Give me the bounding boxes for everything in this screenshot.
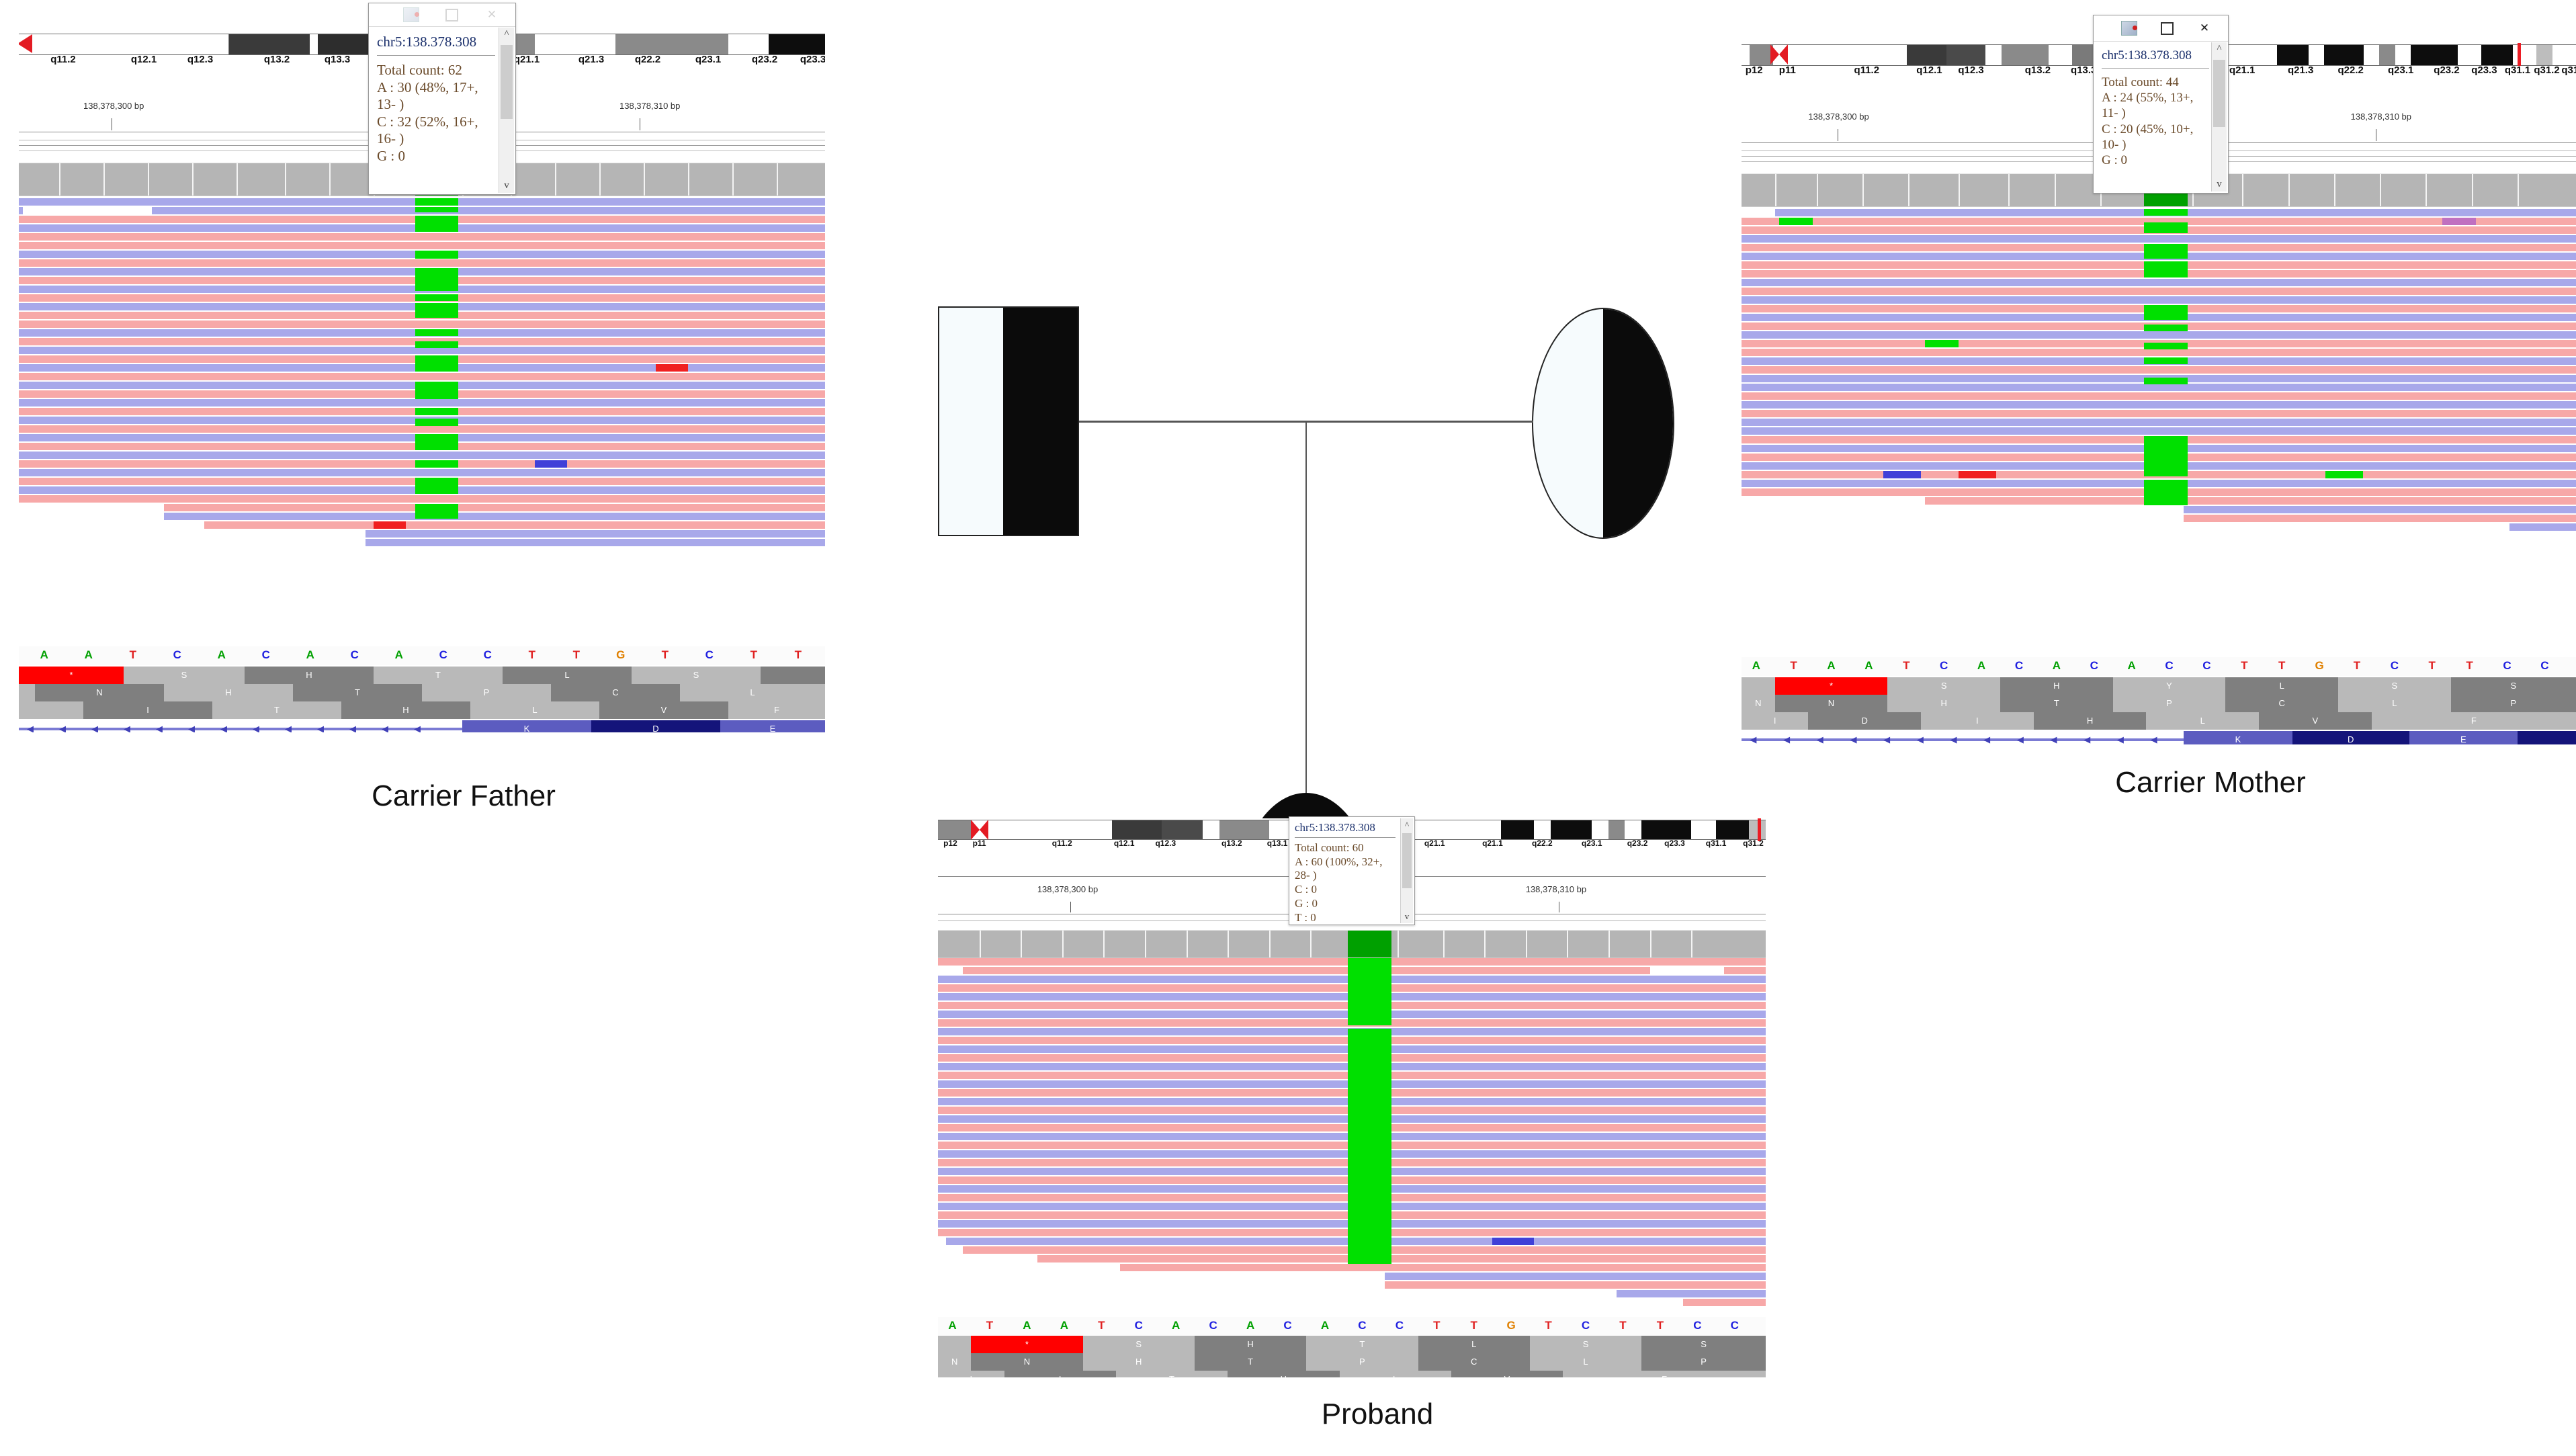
coverage-track-proband[interactable] [938, 930, 1766, 958]
sequence-base: T [777, 646, 820, 664]
read[interactable] [1742, 366, 2576, 374]
amino-acid: T [1195, 1353, 1306, 1371]
ideogram-band-label: q12.1 [131, 54, 157, 65]
read[interactable] [366, 539, 825, 546]
sequence-base: C [422, 646, 465, 664]
translation-frames-father: * S H T L S N H T P C L I T H [19, 667, 825, 719]
sequence-base: C [1381, 1317, 1418, 1334]
pedigree-descent-line [1305, 421, 1307, 794]
read[interactable] [1617, 1290, 1766, 1297]
amino-acid: S [2451, 677, 2576, 695]
alignment-track-mother[interactable] [1742, 209, 2576, 656]
read[interactable] [1742, 384, 2576, 391]
variant-mismatch-A [415, 460, 458, 468]
amino-acid: L [2146, 712, 2259, 730]
ideogram-band-label: q13.2 [264, 54, 290, 65]
amino-acid: H [164, 684, 293, 701]
ideogram-band-label: q23.1 [695, 54, 721, 65]
sequence-base: A [1963, 657, 2000, 675]
read[interactable] [19, 495, 825, 503]
minimize-icon[interactable] [402, 6, 420, 24]
sequence-base: C [2376, 657, 2413, 675]
read[interactable] [19, 259, 825, 267]
amino-acid: H [1195, 1336, 1306, 1353]
read[interactable] [1742, 331, 2576, 339]
tooltip-line: A : 30 (48%, 17+, [377, 79, 495, 97]
ideogram-band-label: q13.1 [1267, 839, 1288, 848]
sequence-base: A [2038, 657, 2075, 675]
read[interactable] [1742, 279, 2576, 286]
read[interactable] [19, 320, 825, 328]
coverage-variant-bar [1348, 931, 1391, 957]
sequence-base: C [1716, 1317, 1753, 1334]
amino-acid: S [1083, 1336, 1195, 1353]
read[interactable] [1037, 1255, 1766, 1262]
gene-exon[interactable]: E [2409, 731, 2518, 744]
tooltip-line: G : 0 [377, 148, 495, 165]
read[interactable] [1742, 296, 2576, 304]
sequence-base: A [378, 646, 421, 664]
ideogram-band-label: q23.3 [800, 54, 825, 65]
close-icon[interactable]: ✕ [2196, 19, 2213, 37]
ideogram-band-label: q23.2 [2434, 65, 2459, 76]
tooltip-divider [377, 55, 495, 56]
sequence-base: A [23, 646, 66, 664]
sequence-base: C [1344, 1317, 1381, 1334]
amino-acid: Y [2113, 677, 2226, 695]
amino-acid: L [503, 667, 632, 684]
sequence-base: A [2113, 657, 2151, 675]
amino-acid: S [1641, 1336, 1766, 1353]
amino-acid: L [1340, 1371, 1451, 1377]
maximize-icon[interactable] [443, 6, 460, 24]
ideogram-band-label: q22.2 [1532, 839, 1553, 848]
read[interactable] [204, 521, 825, 529]
read-mismatch [1959, 471, 1996, 478]
sequence-base: C [2151, 657, 2188, 675]
amino-acid: T [1306, 1336, 1418, 1353]
read[interactable] [1742, 392, 2576, 400]
ideogram-band-label: q23.1 [1582, 839, 1602, 848]
ideogram-band-label: q21.1 [1424, 839, 1445, 848]
amino-acid: T [212, 701, 341, 719]
read-mismatch [1650, 967, 1725, 974]
sequence-base: T [2263, 657, 2301, 675]
gene-exon[interactable]: D [591, 720, 720, 732]
read-mismatch [938, 967, 963, 974]
amino-acid: T [293, 684, 422, 701]
read[interactable] [1683, 1299, 1766, 1306]
read[interactable] [164, 504, 825, 511]
ideogram-band-label: p12 [943, 839, 957, 848]
ruler-label: 138,378,300 bp [1808, 112, 1869, 122]
read[interactable] [1385, 1273, 1766, 1280]
sequence-base: A [1157, 1317, 1194, 1334]
tooltip-line: T : 0 [1295, 911, 1396, 925]
ruler-tick [112, 118, 112, 130]
read-mismatch [2442, 218, 2476, 225]
sequence-base: T [2451, 657, 2489, 675]
variant-mismatch-A [1348, 958, 1391, 1025]
variant-mismatch-A [415, 408, 458, 415]
read[interactable] [366, 530, 825, 538]
tooltip-line: 16- ) [377, 130, 495, 148]
ideogram-band-label: p11 [1779, 65, 1796, 76]
close-icon[interactable]: ✕ [483, 6, 501, 24]
alignment-track-father[interactable] [19, 198, 825, 645]
tooltip-line: G : 0 [2102, 153, 2209, 168]
amino-acid: L [1418, 1336, 1530, 1353]
sequence-base: C [2188, 657, 2225, 675]
sequence-base: C [1567, 1317, 1604, 1334]
sequence-track-proband: A T A A T C A C A C A C C T T G T C T T … [938, 1317, 1766, 1336]
scroll-thumb[interactable] [2213, 60, 2225, 127]
variant-mismatch-A [415, 434, 458, 450]
sequence-base: C [466, 646, 509, 664]
scroll-thumb[interactable] [1402, 833, 1412, 888]
read[interactable] [1742, 427, 2576, 435]
tooltip-locus: chr5:138.378.308 [377, 34, 495, 50]
pedigree-diagram [927, 269, 1720, 739]
read[interactable] [1385, 1281, 1766, 1289]
amino-acid: C [1418, 1353, 1530, 1371]
amino-acid: L [680, 684, 825, 701]
variant-mismatch-A [2144, 480, 2188, 505]
amino-acid: H [1228, 1371, 1339, 1377]
tooltip-scrollbar[interactable]: ^ v [1400, 818, 1413, 923]
sequence-base: C [688, 646, 731, 664]
tooltip-line: 10- ) [2102, 137, 2209, 153]
amino-acid [938, 1336, 971, 1353]
alignment-track-proband[interactable] [938, 958, 1766, 1314]
locus-marker [1758, 818, 1761, 841]
tooltip-line: Total count: 44 [2102, 75, 2209, 90]
ideogram-band-label: q23.2 [752, 54, 777, 65]
ideogram-band-label: q21.3 [2288, 65, 2313, 76]
amino-acid: S [124, 667, 245, 684]
tooltip-scrollbar[interactable]: ^ v [499, 28, 514, 193]
ideogram-band-label: q12.3 [187, 54, 213, 65]
sequence-base: T [511, 646, 554, 664]
variant-mismatch-A [415, 198, 458, 206]
ruler-label: 138,378,300 bp [1037, 884, 1098, 894]
sequence-base: A [200, 646, 243, 664]
gene-exon[interactable]: D [2292, 731, 2409, 744]
tooltip-line: Total count: 60 [1295, 841, 1396, 855]
ideogram-band-label: q21.1 [2229, 65, 2255, 76]
amino-acid: V [599, 701, 728, 719]
read[interactable] [1742, 401, 2576, 409]
amino-acid [761, 667, 825, 684]
amino-acid: I [938, 1371, 1004, 1377]
read[interactable] [2184, 515, 2576, 522]
read[interactable] [19, 233, 825, 241]
amino-acid: P [1641, 1353, 1766, 1371]
amino-acid: I [83, 701, 212, 719]
tooltip-line: G : 0 [1295, 897, 1396, 911]
variant-mismatch-A [415, 478, 458, 494]
read-mismatch [656, 364, 688, 372]
tooltip-line: C : 0 [1295, 883, 1396, 897]
amino-acid: C [551, 684, 680, 701]
read-mismatch [2325, 471, 2363, 478]
tooltip-locus: chr5:138.378.308 [2102, 48, 2209, 63]
ideogram-band-label: q11.2 [50, 54, 76, 65]
read-mismatch [23, 207, 152, 214]
tooltip-father[interactable]: ✕ chr5:138.378.308 Total count: 62 A : 3… [368, 3, 516, 195]
amino-acid: S [632, 667, 761, 684]
sequence-base: T [112, 646, 155, 664]
amino-acid: L [2225, 677, 2338, 695]
amino-acid: N [971, 1353, 1082, 1371]
sequence-base: C [333, 646, 376, 664]
amino-acid: L [470, 701, 599, 719]
amino-acid: C [2225, 695, 2338, 712]
read[interactable] [2184, 506, 2576, 513]
read[interactable] [19, 242, 825, 249]
ideogram-band-label: q31.1 [1706, 839, 1727, 848]
amino-acid: D [1808, 712, 1921, 730]
read[interactable] [19, 373, 825, 380]
tooltip-line: 13- ) [377, 96, 495, 114]
sequence-track-father: A A T C A C A C A C C T T G T C T T [19, 646, 825, 665]
sequence-base: A [1232, 1317, 1269, 1334]
minimize-icon[interactable] [2120, 19, 2138, 37]
variant-mismatch-A [415, 355, 458, 372]
tooltip-titlebar[interactable]: ✕ [369, 3, 515, 27]
tooltip-line: C : 20 (45%, 10+, [2102, 122, 2209, 137]
gene-exon[interactable] [2518, 731, 2576, 744]
variant-mismatch-A [2144, 357, 2188, 364]
variant-mismatch-A [415, 251, 458, 259]
amino-acid [19, 684, 35, 701]
translation-frames-mother: * S H Y L S S N N H T P C L P I D I [1742, 677, 2576, 730]
ideogram-band-label: q22.2 [2337, 65, 2363, 76]
scroll-up-icon[interactable]: ^ [1401, 820, 1413, 830]
sequence-base: A [1850, 657, 1887, 675]
gene-exon[interactable]: E [720, 720, 825, 732]
caption-proband: Proband [1322, 1398, 1433, 1431]
ruler-tick [1838, 129, 1838, 141]
ideogram-band-label: q13.2 [1221, 839, 1242, 848]
tooltip-line: A : 24 (55%, 13+, [2102, 90, 2209, 105]
read[interactable] [1120, 1264, 1766, 1271]
ideogram-band-label: q12.1 [1916, 65, 1942, 76]
locus-marker [2518, 43, 2521, 66]
variant-mismatch-A [415, 382, 458, 399]
tooltip-proband[interactable]: chr5:138.378.308 Total count: 60 A : 60 … [1289, 816, 1415, 925]
tooltip-scrollbar[interactable]: ^ v [2211, 42, 2227, 191]
amino-acid: S [1530, 1336, 1641, 1353]
sequence-base: C [156, 646, 199, 664]
amino-acid: F [2372, 712, 2576, 730]
ruler-label: 138,378,310 bp [2351, 112, 2411, 122]
read[interactable] [19, 469, 825, 476]
sequence-base: T [1604, 1317, 1641, 1334]
read-mismatch [535, 460, 567, 468]
tooltip-line: C : 32 (52%, 16+, [377, 114, 495, 131]
amino-acid: H [2034, 712, 2147, 730]
ruler-tick [640, 118, 640, 130]
amino-acid: P [1306, 1353, 1418, 1371]
sequence-base: G [2301, 657, 2338, 675]
sequence-base: C [2075, 657, 2113, 675]
sequence-base: T [1418, 1317, 1455, 1334]
amino-acid: L [1530, 1353, 1641, 1371]
sequence-base: T [1530, 1317, 1567, 1334]
amino-acid: I [1921, 712, 2034, 730]
gene-track-mother[interactable]: ◀ ◀ ◀ ◀ ◀ ◀ ◀ ◀ ◀ ◀ ◀ ◀ ◀ K D E SIL1 [1742, 731, 2576, 744]
scroll-down-icon[interactable]: v [2212, 179, 2227, 190]
gene-exon[interactable]: K [2184, 731, 2292, 744]
sequence-base: T [2413, 657, 2451, 675]
ideogram-band-label: q23.1 [2388, 65, 2413, 76]
sequence-base: T [2225, 657, 2263, 675]
sequence-base: C [1925, 657, 1963, 675]
amino-acid: P [2451, 695, 2576, 712]
centromere-icon [971, 820, 988, 840]
amino-acid: V [1451, 1371, 1563, 1377]
sequence-base: A [1045, 1317, 1082, 1334]
amino-acid: N [938, 1353, 971, 1371]
amino-acid: H [341, 701, 470, 719]
tooltip-titlebar[interactable]: ✕ [2094, 15, 2228, 42]
sequence-base: C [245, 646, 288, 664]
read[interactable] [19, 425, 825, 433]
amino-acid: F [728, 701, 825, 719]
amino-acid: S [1887, 677, 2000, 695]
scroll-down-icon[interactable]: v [499, 180, 514, 191]
tooltip-body: chr5:138.378.308 Total count: 62 A : 30 … [369, 27, 515, 168]
tooltip-line: 28- ) [1295, 869, 1396, 883]
variant-mismatch-A [415, 419, 458, 426]
read[interactable] [1742, 419, 2576, 426]
sequence-base: T [644, 646, 687, 664]
sequence-base: C [2000, 657, 2038, 675]
read-mismatch [1925, 340, 1959, 347]
sequence-base: C [2526, 657, 2563, 675]
scroll-down-icon[interactable]: v [1401, 911, 1413, 922]
scroll-up-icon[interactable]: ^ [2212, 44, 2227, 55]
affected-half-fill [1603, 309, 1673, 538]
read-mismatch [1492, 1238, 1534, 1245]
ideogram-band-label: q11.2 [1052, 839, 1072, 848]
variant-mismatch-A [415, 207, 458, 212]
sequence-base: A [289, 646, 332, 664]
amino-acid: F [1563, 1371, 1766, 1377]
caption-mother: Carrier Mother [2115, 766, 2306, 800]
read[interactable] [1742, 410, 2576, 417]
amino-acid: N [1775, 695, 1888, 712]
read[interactable] [19, 452, 825, 459]
ideogram-band-label: q31.2 [2534, 65, 2559, 76]
variant-mismatch-A [2144, 209, 2188, 216]
pedigree-mother-circle[interactable] [1532, 308, 1674, 539]
gene-exon[interactable]: K [462, 720, 591, 732]
amino-acid: H [1887, 695, 2000, 712]
sequence-base: C [1679, 1317, 1716, 1334]
sequence-base: A [67, 646, 110, 664]
amino-acid: P [2113, 695, 2226, 712]
ideogram-band-label: p11 [973, 839, 986, 848]
variant-mismatch-A [2144, 305, 2188, 320]
read[interactable] [1742, 349, 2576, 356]
amino-acid: * [1775, 677, 1888, 695]
read[interactable] [1925, 497, 2576, 505]
read-mismatch [1779, 218, 1813, 225]
variant-mismatch-A [2144, 436, 2188, 476]
ideogram-band-label: q21.1 [514, 54, 540, 65]
tooltip-body: chr5:138.378.308 Total count: 60 A : 60 … [1289, 817, 1414, 927]
variant-mismatch-A [415, 504, 458, 519]
sequence-base: A [1813, 657, 1850, 675]
ideogram-band-label: q11.2 [1854, 65, 1880, 76]
ideogram-band-label: q21.3 [578, 54, 604, 65]
ideogram-left-arrow [19, 34, 32, 53]
amino-acid: I [1742, 712, 1808, 730]
read[interactable] [164, 513, 825, 520]
ruler-tick [1559, 902, 1559, 912]
amino-acid: S [2338, 677, 2451, 695]
ideogram-band-label: q21.1 [1482, 839, 1503, 848]
read[interactable] [1742, 288, 2576, 295]
variant-mismatch-A [2144, 244, 2188, 259]
sequence-base: T [2338, 657, 2376, 675]
sequence-base: T [971, 1317, 1008, 1334]
sequence-base: A [1742, 657, 1775, 675]
ideogram-band-label: q13.3 [325, 54, 350, 65]
variant-mismatch-A [415, 268, 458, 291]
ideogram-band-label: q22.2 [635, 54, 660, 65]
pedigree-father-square[interactable] [938, 306, 1079, 536]
ideogram-band-label: q31 [2561, 65, 2576, 76]
amino-acid: T [2000, 695, 2113, 712]
tooltip-body: chr5:138.378.308 Total count: 44 A : 24 … [2094, 42, 2228, 171]
variant-mismatch-A [2144, 261, 2188, 277]
sequence-base: A [1306, 1317, 1343, 1334]
ideogram-band-label: p12 [1746, 65, 1763, 76]
read[interactable] [2509, 523, 2576, 531]
tooltip-locus: chr5:138.378.308 [1295, 821, 1396, 834]
amino-acid: H [1083, 1353, 1195, 1371]
scroll-up-icon[interactable]: ^ [499, 29, 514, 40]
gene-track-father[interactable]: ◀ ◀ ◀ ◀ ◀ ◀ ◀ ◀ ◀ ◀ ◀ ◀ ◀ K D E SIL1 [19, 720, 825, 732]
ideogram-band-label: q23.2 [1627, 839, 1648, 848]
sequence-base: T [1775, 657, 1813, 675]
ideogram-band-label: q31.2 [1743, 839, 1764, 848]
amino-acid [1742, 677, 1775, 695]
amino-acid: I [1004, 1371, 1116, 1377]
variant-mismatch-A [415, 216, 458, 232]
variant-mismatch-A [2144, 222, 2188, 233]
scroll-thumb[interactable] [501, 45, 513, 119]
tooltip-mother[interactable]: ✕ chr5:138.378.308 Total count: 44 A : 2… [2093, 15, 2229, 194]
maximize-icon[interactable] [2158, 19, 2176, 37]
sequence-base: C [2489, 657, 2526, 675]
read[interactable] [1742, 235, 2576, 243]
tooltip-line: Total count: 62 [377, 62, 495, 79]
ruler-label: 138,378,300 bp [83, 101, 144, 111]
centromere-icon [1770, 44, 1788, 65]
ideogram-band-label: q31.1 [2505, 65, 2530, 76]
amino-acid: T [1116, 1371, 1228, 1377]
read-mismatch [1883, 471, 1921, 478]
read[interactable] [19, 399, 825, 406]
amino-acid [19, 701, 83, 719]
sequence-base: G [599, 646, 642, 664]
amino-acid: H [2000, 677, 2113, 695]
amino-acid: * [971, 1336, 1082, 1353]
